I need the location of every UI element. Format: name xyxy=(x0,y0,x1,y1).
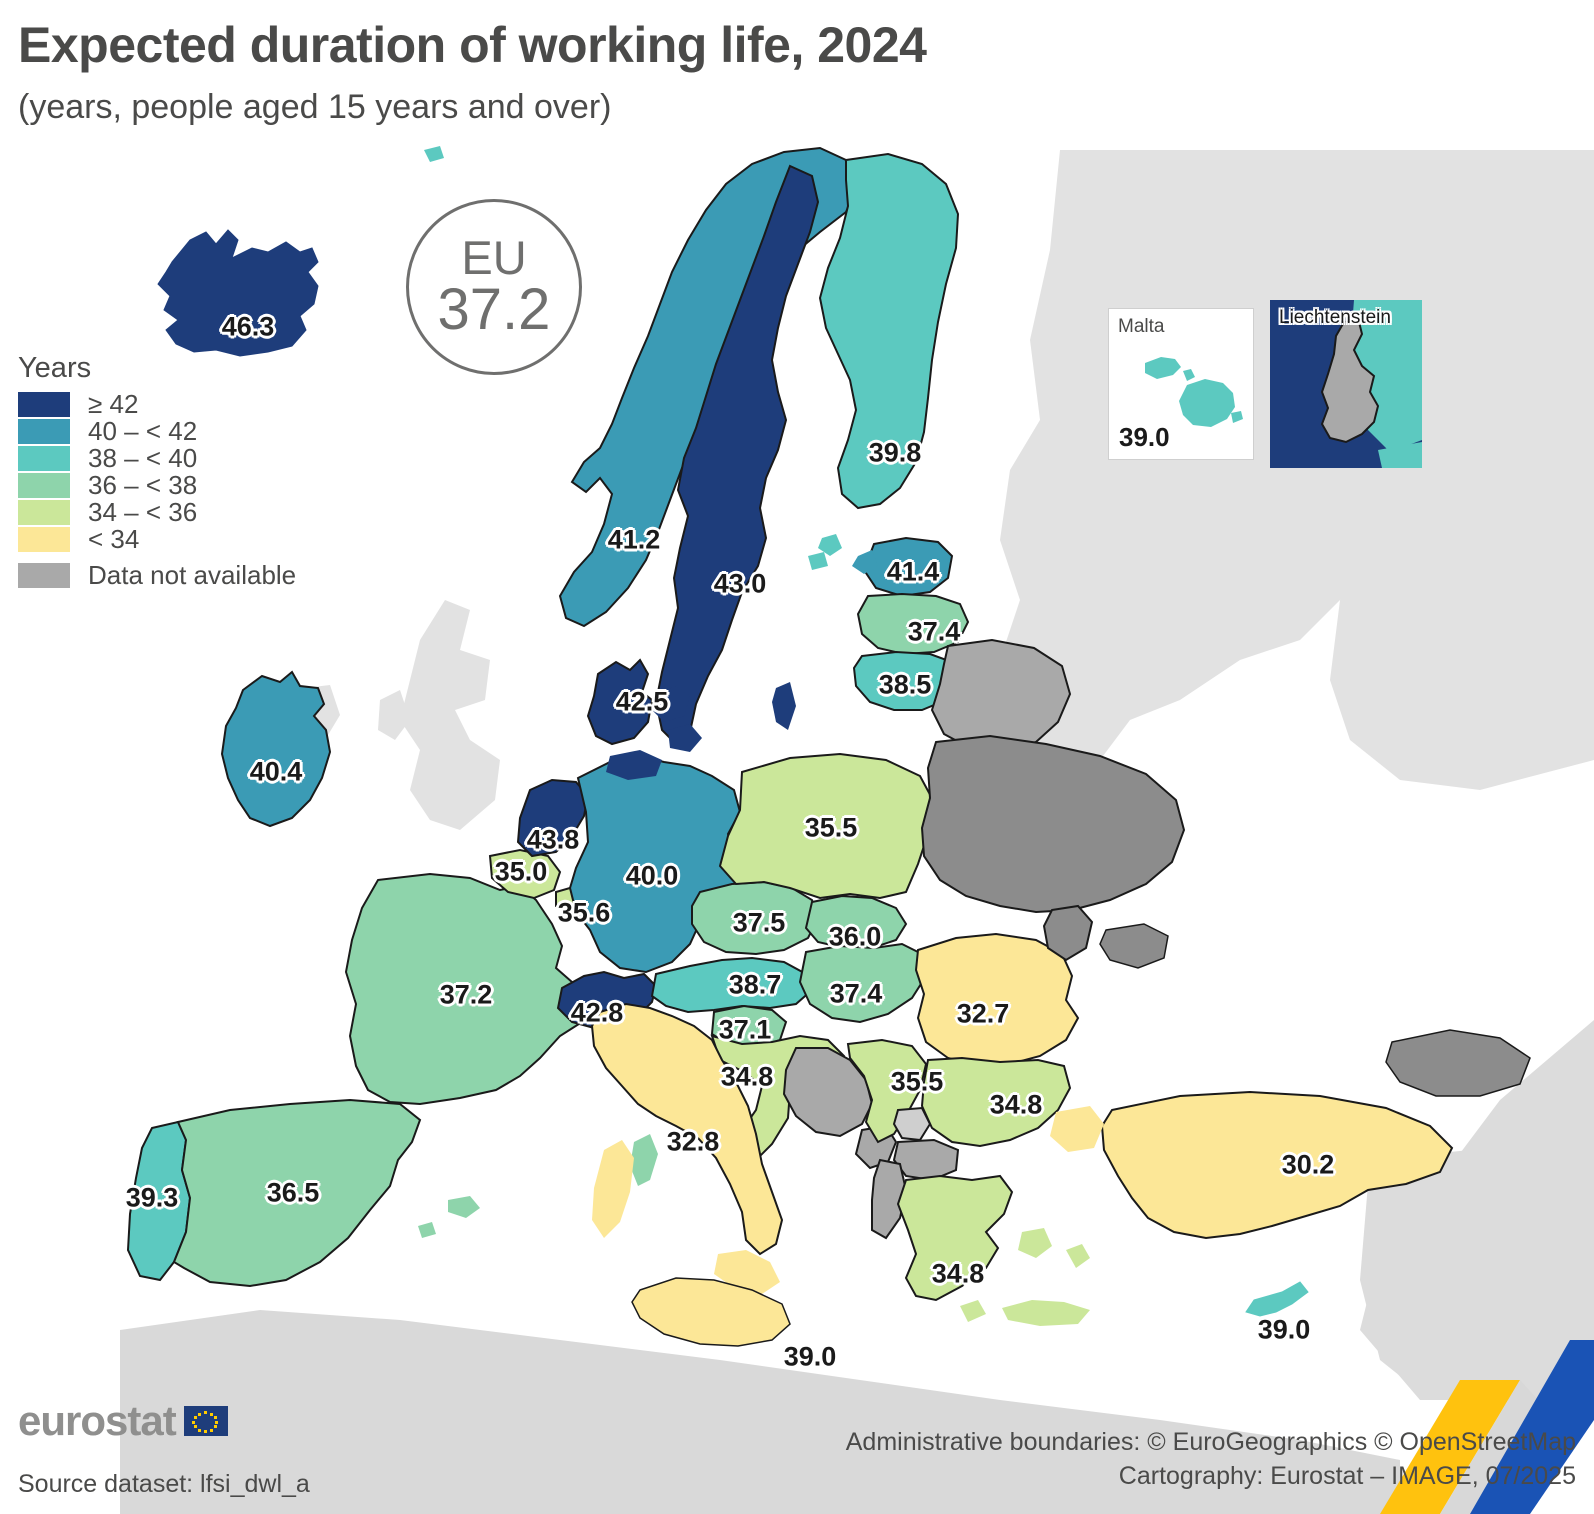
inset-malta-label: Malta xyxy=(1118,316,1164,338)
map-value-iceland: 46.3 xyxy=(222,312,275,343)
map-value-slovenia: 37.1 xyxy=(719,1015,772,1046)
legend-title: Years xyxy=(18,352,296,385)
legend-item-38-40[interactable]: 38 – < 40 xyxy=(18,445,296,472)
inset-liechtenstein-label: Liechtenstein xyxy=(1279,307,1391,329)
credit-boundaries: Administrative boundaries: © EuroGeograp… xyxy=(846,1426,1576,1460)
map-value-luxembourg: 35.6 xyxy=(558,898,611,929)
map-value-turkiye: 30.2 xyxy=(1282,1150,1335,1181)
map-value-estonia: 41.4 xyxy=(887,557,940,588)
region-crimea xyxy=(1100,924,1168,968)
credits: Administrative boundaries: © EuroGeograp… xyxy=(846,1426,1576,1494)
map-value-croatia: 34.8 xyxy=(721,1062,774,1093)
country-spain[interactable] xyxy=(174,1100,480,1286)
map-value-italy: 32.8 xyxy=(667,1127,720,1158)
legend: Years ≥ 42 40 – < 42 38 – < 40 36 – < 38… xyxy=(18,352,296,589)
map-value-lithuania: 38.5 xyxy=(879,670,932,701)
legend-swatch-no-data xyxy=(18,563,70,588)
map-value-sweden: 43.0 xyxy=(714,569,767,600)
map-value-greece: 34.8 xyxy=(932,1259,985,1290)
country-north-macedonia[interactable] xyxy=(894,1140,958,1180)
map-value-austria: 38.7 xyxy=(729,970,782,1001)
legend-item-34-36[interactable]: 34 – < 36 xyxy=(18,499,296,526)
map-page: Expected duration of working life, 2024 … xyxy=(0,0,1594,1514)
map-value-finland: 39.8 xyxy=(869,438,922,469)
eu-aggregate-label: EU xyxy=(461,235,526,281)
legend-label-no-data: Data not available xyxy=(88,560,296,591)
region-caucasus xyxy=(1386,1030,1530,1096)
map-value-poland: 35.5 xyxy=(805,813,858,844)
inset-malta[interactable]: Malta 39.0 xyxy=(1108,308,1254,460)
map-value-latvia: 37.4 xyxy=(908,617,961,648)
inset-liechtenstein[interactable]: Liechtenstein xyxy=(1270,300,1422,468)
map-value-portugal: 39.3 xyxy=(126,1183,179,1214)
map-value-malta: 39.0 xyxy=(784,1342,837,1373)
map-value-norway: 41.2 xyxy=(608,525,661,556)
map-value-czechia: 37.5 xyxy=(733,908,786,939)
legend-swatch-lt-34 xyxy=(18,527,70,552)
credit-cartography: Cartography: Eurostat – IMAGE, 07/2025 xyxy=(846,1460,1576,1494)
map-value-ireland: 40.4 xyxy=(250,757,303,788)
eurostat-logo: eurostat xyxy=(18,1400,228,1442)
country-ukraine[interactable] xyxy=(922,736,1184,912)
eu-flag-icon xyxy=(184,1406,228,1436)
legend-item-no-data[interactable]: Data not available xyxy=(18,562,296,589)
inset-malta-value: 39.0 xyxy=(1119,422,1170,453)
map-value-belgium: 35.0 xyxy=(495,857,548,888)
eurostat-wordmark: eurostat xyxy=(18,1400,176,1442)
map-value-bulgaria: 34.8 xyxy=(990,1090,1043,1121)
legend-swatch-ge-42 xyxy=(18,392,70,417)
map-value-cyprus: 39.0 xyxy=(1258,1315,1311,1346)
legend-item-36-38[interactable]: 36 – < 38 xyxy=(18,472,296,499)
map-value-denmark: 42.5 xyxy=(616,687,669,718)
legend-swatch-40-42 xyxy=(18,419,70,444)
map-value-france: 37.2 xyxy=(440,980,493,1011)
eu-aggregate-badge: EU 37.2 xyxy=(406,199,582,375)
map-value-germany: 40.0 xyxy=(626,861,679,892)
map-value-netherlands: 43.8 xyxy=(527,825,580,856)
map-value-switzerland: 42.8 xyxy=(571,998,624,1029)
eu-aggregate-value: 37.2 xyxy=(438,281,551,339)
country-greece[interactable] xyxy=(898,1176,1090,1326)
legend-item-40-42[interactable]: 40 – < 42 xyxy=(18,418,296,445)
country-cyprus[interactable] xyxy=(1246,1282,1308,1316)
legend-swatch-36-38 xyxy=(18,473,70,498)
map-value-hungary: 37.4 xyxy=(830,979,883,1010)
legend-swatch-38-40 xyxy=(18,446,70,471)
map-value-romania: 32.7 xyxy=(957,999,1010,1030)
map-value-spain: 36.5 xyxy=(267,1178,320,1209)
map-value-slovakia: 36.0 xyxy=(829,922,882,953)
choropleth-map xyxy=(0,0,1594,1514)
legend-item-ge-42[interactable]: ≥ 42 xyxy=(18,391,296,418)
legend-label-lt-34: < 34 xyxy=(88,524,139,555)
legend-swatch-34-36 xyxy=(18,500,70,525)
country-ireland[interactable] xyxy=(222,672,330,826)
source-dataset: Source dataset: lfsi_dwl_a xyxy=(18,1470,310,1499)
map-value-serbia: 35.5 xyxy=(891,1067,944,1098)
legend-item-lt-34[interactable]: < 34 xyxy=(18,526,296,553)
